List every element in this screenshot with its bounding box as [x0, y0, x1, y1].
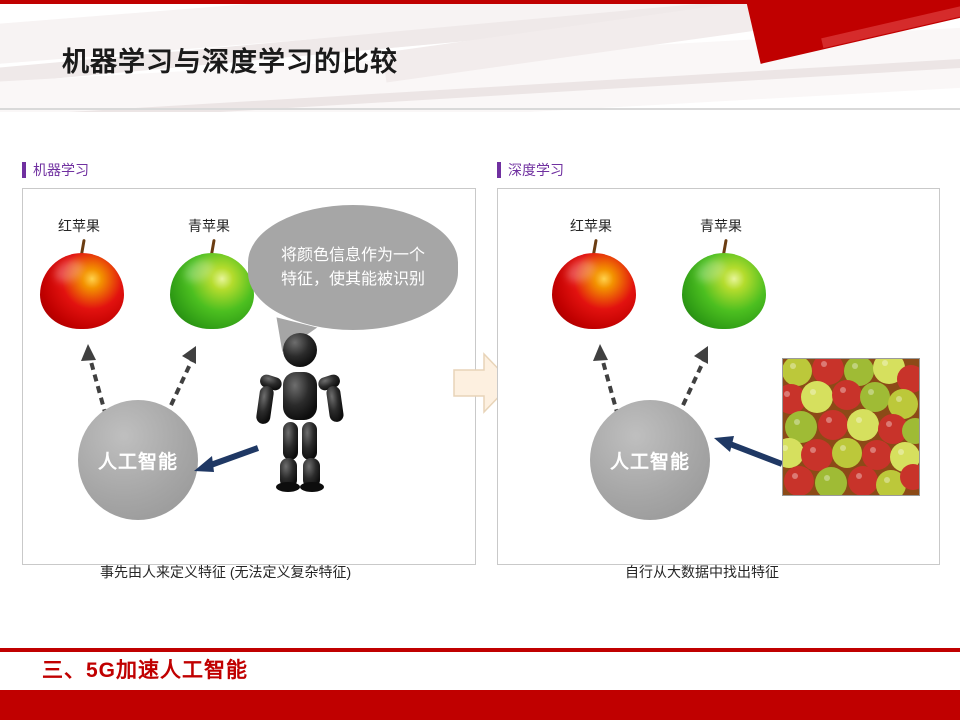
red-apple-icon	[40, 245, 124, 329]
ai-circle-ml: 人工智能	[78, 400, 198, 520]
label-red-apple-ml: 红苹果	[58, 216, 100, 236]
panel-header-label: 机器学习	[33, 160, 89, 180]
label-green-apple-ml: 青苹果	[188, 216, 230, 236]
purple-bar-icon	[497, 162, 501, 178]
panel-header-deep-learning: 深度学习	[497, 160, 564, 180]
speech-bubble: 将颜色信息作为一个 特征，使其能被识别	[248, 205, 458, 330]
footer-bar: 三、5G加速人工智能	[0, 648, 960, 720]
fruit-cluster-photo	[782, 358, 920, 496]
slide-root: 机器学习与深度学习的比较 机器学习 深度学习 红苹果 青苹果 人工智能	[0, 0, 960, 720]
person-figure-icon	[252, 332, 348, 492]
green-apple-icon	[170, 245, 254, 329]
red-apple-icon	[552, 245, 636, 329]
solid-arrow-icon	[706, 430, 788, 472]
bubble-line-1: 将颜色信息作为一个	[263, 244, 443, 268]
ai-circle-label: 人工智能	[610, 447, 690, 474]
ai-circle-label: 人工智能	[98, 447, 178, 474]
panel-header-label: 深度学习	[508, 160, 564, 180]
bubble-line-2: 特征，使其能被识别	[263, 268, 443, 292]
label-green-apple-dl: 青苹果	[700, 216, 742, 236]
caption-machine-learning: 事先由人来定义特征 (无法定义复杂特征)	[100, 562, 351, 582]
footer-label: 三、5G加速人工智能	[42, 654, 248, 684]
panel-header-machine-learning: 机器学习	[22, 160, 89, 180]
label-red-apple-dl: 红苹果	[570, 216, 612, 236]
purple-bar-icon	[22, 162, 26, 178]
page-title: 机器学习与深度学习的比较	[62, 40, 398, 79]
green-apple-icon	[682, 245, 766, 329]
ai-circle-dl: 人工智能	[590, 400, 710, 520]
caption-deep-learning: 自行从大数据中找出特征	[625, 562, 779, 582]
